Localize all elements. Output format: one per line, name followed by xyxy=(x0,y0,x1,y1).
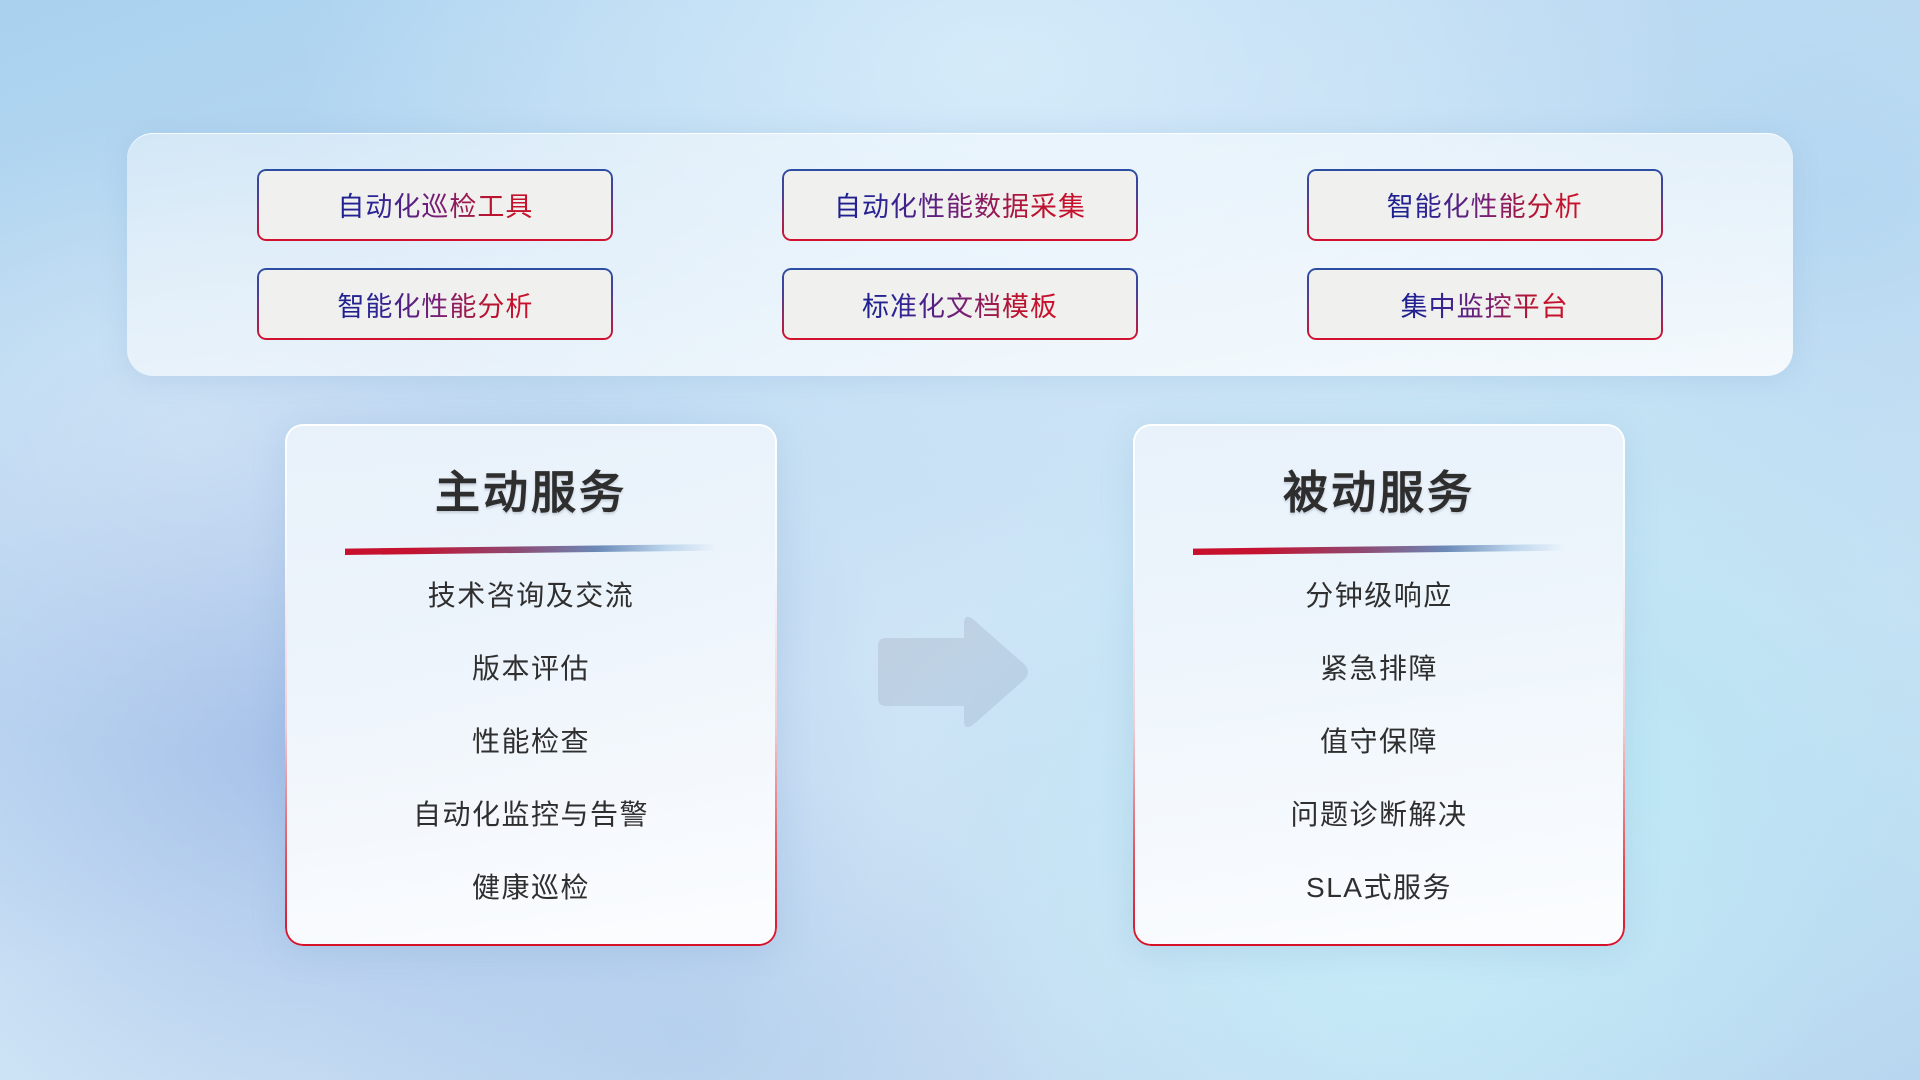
list-item: 紧急排障 xyxy=(1320,655,1438,683)
list-item: 问题诊断解决 xyxy=(1290,801,1467,829)
card-list: 技术咨询及交流 版本评估 性能检查 自动化监控与告警 健康巡检 xyxy=(285,582,777,902)
service-card-passive: 被动服务 分钟级响应 紧急排障 值守保障 问题诊断解决 SLA式服务 xyxy=(1133,424,1625,946)
card-title: 主动服务 xyxy=(435,456,627,521)
list-item: 健康巡检 xyxy=(472,874,590,902)
capability-tag[interactable]: 智能化性能分析 xyxy=(1307,169,1663,241)
capability-tag[interactable]: 自动化巡检工具 xyxy=(257,169,613,241)
list-item: 分钟级响应 xyxy=(1305,582,1453,610)
capability-tag-label: 自动化巡检工具 xyxy=(337,185,533,224)
list-item: 技术咨询及交流 xyxy=(428,582,635,610)
list-item: 性能检查 xyxy=(472,728,590,756)
capability-tag-label: 自动化性能数据采集 xyxy=(834,185,1086,224)
flow-arrow xyxy=(872,610,1032,735)
capability-tag-label: 标准化文档模板 xyxy=(862,285,1058,324)
capability-tag-label: 智能化性能分析 xyxy=(337,285,533,324)
capability-tag[interactable]: 智能化性能分析 xyxy=(257,268,613,340)
list-item: 值守保障 xyxy=(1320,728,1438,756)
list-item: SLA式服务 xyxy=(1306,874,1452,902)
list-item: 版本评估 xyxy=(472,655,590,683)
capability-tag-label: 集中监控平台 xyxy=(1401,285,1569,324)
capability-tag[interactable]: 集中监控平台 xyxy=(1307,268,1663,340)
list-item: 自动化监控与告警 xyxy=(413,801,649,829)
capability-tag[interactable]: 自动化性能数据采集 xyxy=(782,169,1138,241)
service-card-active: 主动服务 技术咨询及交流 版本评估 性能检查 自动化监控与告警 健康巡检 xyxy=(285,424,777,946)
arrow-right-icon xyxy=(872,610,1032,735)
capability-tag[interactable]: 标准化文档模板 xyxy=(782,268,1138,340)
capability-panel: 自动化巡检工具 自动化性能数据采集 智能化性能分析 智能化性能分析 标准化文档模… xyxy=(127,133,1793,376)
capability-tag-label: 智能化性能分析 xyxy=(1387,185,1583,224)
card-divider xyxy=(345,544,717,555)
card-list: 分钟级响应 紧急排障 值守保障 问题诊断解决 SLA式服务 xyxy=(1133,582,1625,902)
card-title: 被动服务 xyxy=(1283,456,1475,521)
card-divider xyxy=(1193,544,1565,555)
